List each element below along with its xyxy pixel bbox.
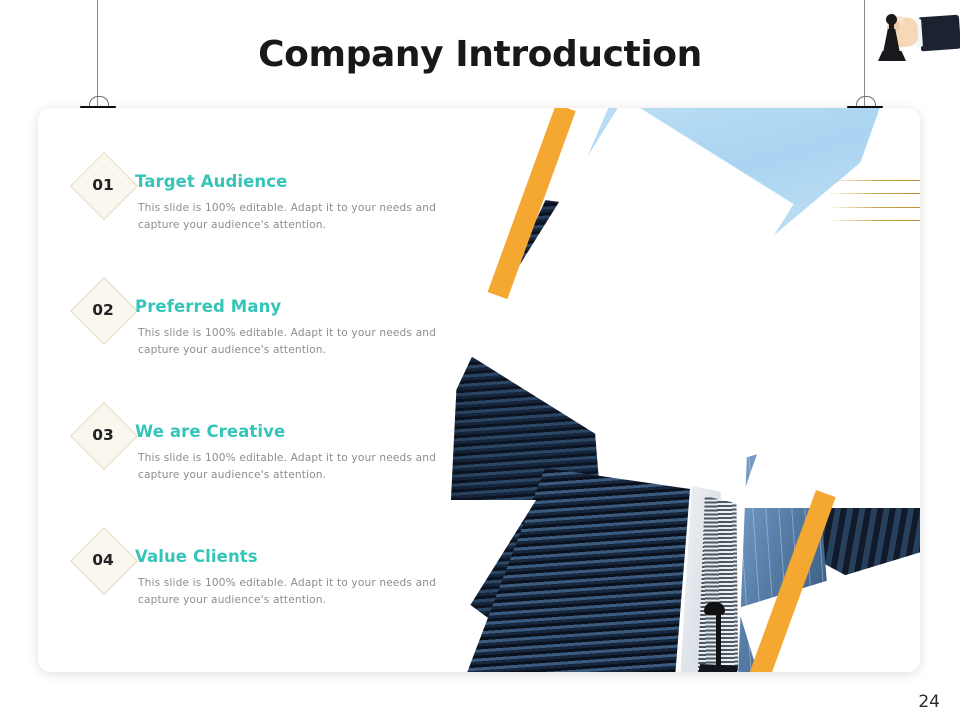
- gold-line: [828, 180, 920, 181]
- item-number: 01: [80, 162, 126, 208]
- item-number: 04: [80, 537, 126, 583]
- list-item[interactable]: 02 Preferred Many This slide is 100% edi…: [80, 285, 480, 410]
- hanger-string-left: [97, 0, 98, 108]
- streetlight-head: [704, 602, 725, 615]
- item-description: This slide is 100% editable. Adapt it to…: [138, 575, 458, 609]
- gold-accent-lines: [828, 180, 920, 226]
- item-number: 03: [80, 412, 126, 458]
- list-item[interactable]: 04 Value Clients This slide is 100% edit…: [80, 535, 480, 660]
- item-title: Target Audience: [135, 172, 287, 191]
- hanger-string-right: [864, 0, 865, 108]
- item-title: Preferred Many: [135, 297, 281, 316]
- gold-line: [828, 193, 920, 194]
- item-title: We are Creative: [135, 422, 285, 441]
- streetlight-pole: [716, 608, 721, 672]
- page-title: Company Introduction: [0, 34, 960, 75]
- item-description: This slide is 100% editable. Adapt it to…: [138, 200, 458, 234]
- hand-holding-chess-pawn-icon: [878, 8, 960, 70]
- gold-line: [828, 207, 920, 208]
- gold-line: [828, 220, 920, 221]
- content-card: 01 Target Audience This slide is 100% ed…: [38, 108, 920, 672]
- feature-list: 01 Target Audience This slide is 100% ed…: [80, 160, 480, 660]
- list-item[interactable]: 03 We are Creative This slide is 100% ed…: [80, 410, 480, 535]
- item-description: This slide is 100% editable. Adapt it to…: [138, 450, 458, 484]
- slide-canvas: Company Introduction: [0, 0, 960, 720]
- chess-pawn-base: [878, 51, 906, 61]
- list-item[interactable]: 01 Target Audience This slide is 100% ed…: [80, 160, 480, 285]
- item-description: This slide is 100% editable. Adapt it to…: [138, 325, 458, 359]
- page-number: 24: [918, 692, 940, 712]
- suit-sleeve: [919, 15, 960, 52]
- item-title: Value Clients: [135, 547, 258, 566]
- item-number: 02: [80, 287, 126, 333]
- skyscraper-photo-collage: [438, 108, 920, 672]
